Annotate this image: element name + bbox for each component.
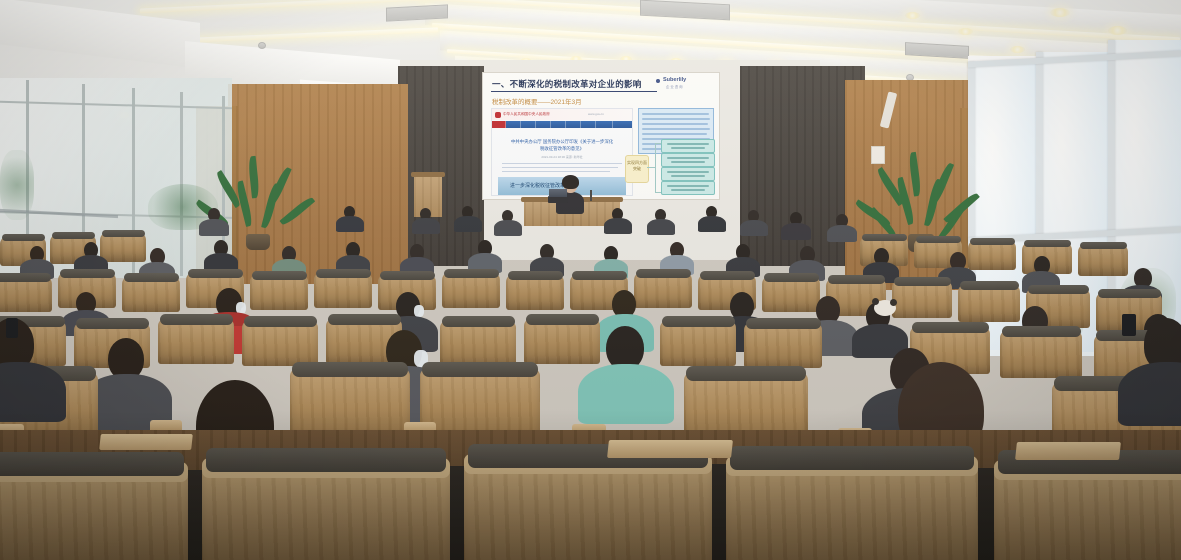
node-text-line — [671, 161, 705, 163]
node-text-line — [671, 175, 705, 177]
seat-foreground[interactable] — [992, 468, 1181, 560]
national-emblem-icon — [495, 112, 501, 118]
seat-top-pad — [700, 271, 755, 280]
seat-top-pad — [1024, 240, 1071, 247]
node-text-line — [667, 171, 709, 173]
smartphone[interactable] — [1122, 314, 1136, 336]
microphone — [590, 190, 592, 201]
gov-doc-heading-line2: 税收征管改革的意见》 — [492, 146, 632, 152]
slide-heading: 一、不断深化的税制改革对企业的影响 — [492, 78, 642, 90]
center-node-label: 实现四方面突破 — [626, 160, 648, 172]
seat-top-pad — [508, 271, 563, 280]
nav-item[interactable] — [580, 121, 596, 128]
plant-pot — [246, 234, 270, 250]
node-text-line — [667, 185, 709, 187]
ceiling-sprinkler — [258, 42, 266, 49]
seat-top-pad — [0, 452, 184, 476]
seat-top-pad — [828, 275, 885, 284]
attendee-shoulders — [412, 218, 440, 234]
nav-item[interactable] — [492, 121, 506, 128]
seat[interactable] — [1000, 330, 1082, 378]
seat-top-pad — [636, 269, 691, 278]
attendee-shoulders — [781, 223, 811, 240]
seat-top-pad — [746, 318, 821, 329]
seat-top-pad — [912, 322, 989, 333]
seat-top-pad — [76, 318, 149, 329]
panda-plush-ear — [872, 298, 879, 305]
nav-item[interactable] — [595, 121, 613, 128]
company-logo-text: Suberlily — [663, 77, 686, 83]
seat-gap — [712, 464, 726, 560]
seat-gap — [978, 468, 994, 560]
slide-branch-node-1 — [661, 139, 715, 153]
seat-top-pad — [422, 362, 538, 377]
doc-banner-caption: 进一步深化税收征管改革 — [510, 182, 565, 189]
recessed-downlight — [958, 28, 973, 35]
seat-top-pad — [730, 446, 974, 470]
recessed-downlight — [1010, 46, 1025, 53]
seat-foreground[interactable] — [0, 470, 190, 560]
presentation-slide: 一、不断深化的税制改革对企业的影响 Suberlily 企业咨询 税制改革的概要… — [483, 73, 719, 199]
nav-item[interactable] — [505, 121, 521, 128]
attendee-shoulders — [336, 216, 364, 232]
seat-top-pad — [124, 273, 179, 282]
slide-title-underline — [491, 91, 657, 92]
node-text-line — [671, 147, 705, 149]
potted-palm-left — [222, 152, 302, 252]
seat-top-pad — [1028, 285, 1089, 294]
nav-item[interactable] — [565, 121, 581, 128]
seat-top-pad — [960, 281, 1019, 290]
seat-top-pad — [252, 271, 307, 280]
smartphone[interactable] — [6, 318, 18, 338]
attendee-shoulders — [578, 364, 674, 424]
gov-doc-meta: 2021-03-24 18:30 来源: 新华社 — [492, 155, 632, 159]
seat-top-pad — [292, 362, 408, 377]
nav-item[interactable] — [550, 121, 566, 128]
seat-top-pad — [206, 448, 446, 472]
callout-text-line — [642, 118, 710, 120]
seat-top-pad — [686, 366, 806, 381]
folding-desk-tray[interactable] — [607, 440, 733, 458]
seat-top-pad — [444, 269, 499, 278]
callout-text-line — [642, 123, 708, 125]
presenter-laptop — [548, 196, 568, 203]
seat-foreground[interactable] — [200, 466, 452, 560]
nav-item[interactable] — [520, 121, 536, 128]
seat-top-pad — [188, 269, 243, 278]
seat-top-pad — [1080, 242, 1127, 249]
seat-top-pad — [102, 230, 145, 237]
recessed-downlight — [1108, 26, 1127, 35]
presenter-laptop-screen — [549, 189, 567, 197]
seat-top-pad — [52, 232, 95, 239]
doc-text-line — [502, 171, 610, 172]
seat-top-pad — [60, 269, 115, 278]
seat-top-pad — [316, 269, 371, 278]
node-text-line — [671, 189, 705, 191]
attendee-shoulders — [740, 220, 768, 236]
seat-gap — [188, 470, 202, 560]
slide-subheading: 税制改革的概要——2021年3月 — [492, 96, 582, 106]
auditorium-scene: 一、不断深化的税制改革对企业的影响 Suberlily 企业咨询 税制改革的概要… — [0, 0, 1181, 560]
seat-top-pad — [662, 316, 735, 327]
callout-text-line — [642, 113, 709, 115]
attendee-shoulders — [494, 220, 522, 236]
wood-panel-stage-right — [398, 66, 484, 266]
gov-site-title: 中华人民共和国中央人民政府 — [503, 112, 550, 117]
slide-branch-node-2 — [661, 153, 715, 167]
seat-top-pad — [526, 314, 599, 325]
wall-sign — [871, 146, 885, 164]
folding-desk-tray[interactable] — [99, 434, 193, 450]
doc-text-line — [502, 167, 618, 168]
seat-top-pad — [442, 316, 515, 327]
attendee-shoulders — [647, 219, 675, 235]
slide-center-node: 实现四方面突破 — [625, 155, 649, 183]
gov-doc-heading-line1: 中共中央办公厅 国务院办公厅印发《关于进一步深化 — [492, 139, 632, 145]
palm-frond — [248, 156, 260, 199]
lectern-left-top — [411, 172, 445, 177]
attendee-shoulders — [827, 225, 857, 242]
node-connector — [647, 167, 655, 168]
nav-item[interactable] — [535, 121, 551, 128]
nav-item[interactable] — [612, 121, 633, 128]
seat-top-pad — [916, 236, 961, 243]
seat-top-pad — [572, 271, 627, 280]
palm-frond — [924, 178, 942, 227]
recessed-downlight — [905, 12, 920, 19]
seat-top-pad — [160, 314, 233, 325]
doc-text-line — [502, 163, 622, 164]
seat-top-pad — [1098, 289, 1161, 298]
callout-text-line — [642, 133, 707, 135]
seat-top-pad — [0, 273, 51, 282]
seat-foreground[interactable] — [724, 464, 980, 560]
seat-top-pad — [764, 273, 819, 282]
seat-top-pad — [2, 234, 45, 241]
seat-top-pad — [1002, 326, 1081, 337]
panda-plush-ear — [890, 299, 897, 306]
attendee-shoulders — [604, 218, 632, 234]
seat-top-pad — [970, 238, 1015, 245]
seat-foreground[interactable] — [462, 462, 714, 560]
slide-branch-node-3 — [661, 167, 715, 181]
seat-top-pad — [862, 234, 907, 241]
seat-top-pad — [380, 271, 435, 280]
callout-text-line — [642, 128, 710, 130]
recessed-downlight — [1050, 8, 1070, 17]
presenter-hair — [562, 175, 579, 189]
company-logo-mark — [656, 79, 660, 83]
seat-top-pad — [894, 277, 951, 286]
seat-top-pad — [328, 314, 401, 325]
slide-branch-node-4 — [661, 181, 715, 195]
attendee-shoulders — [698, 216, 726, 232]
folding-desk-tray[interactable] — [1015, 442, 1121, 460]
face-mask — [414, 305, 424, 317]
node-text-line — [667, 157, 709, 159]
company-logo-subtext: 企业咨询 — [666, 84, 684, 89]
node-text-line — [667, 143, 709, 145]
seat-top-pad — [244, 316, 317, 327]
palm-frond — [908, 152, 922, 197]
seat-gap — [450, 466, 464, 560]
palm-frond — [261, 182, 280, 229]
attendee-shoulders — [454, 216, 482, 232]
gov-site-url: www.gov.cn — [588, 112, 604, 116]
attendee-shoulders — [199, 219, 229, 236]
gov-site-nav[interactable] — [492, 121, 632, 128]
